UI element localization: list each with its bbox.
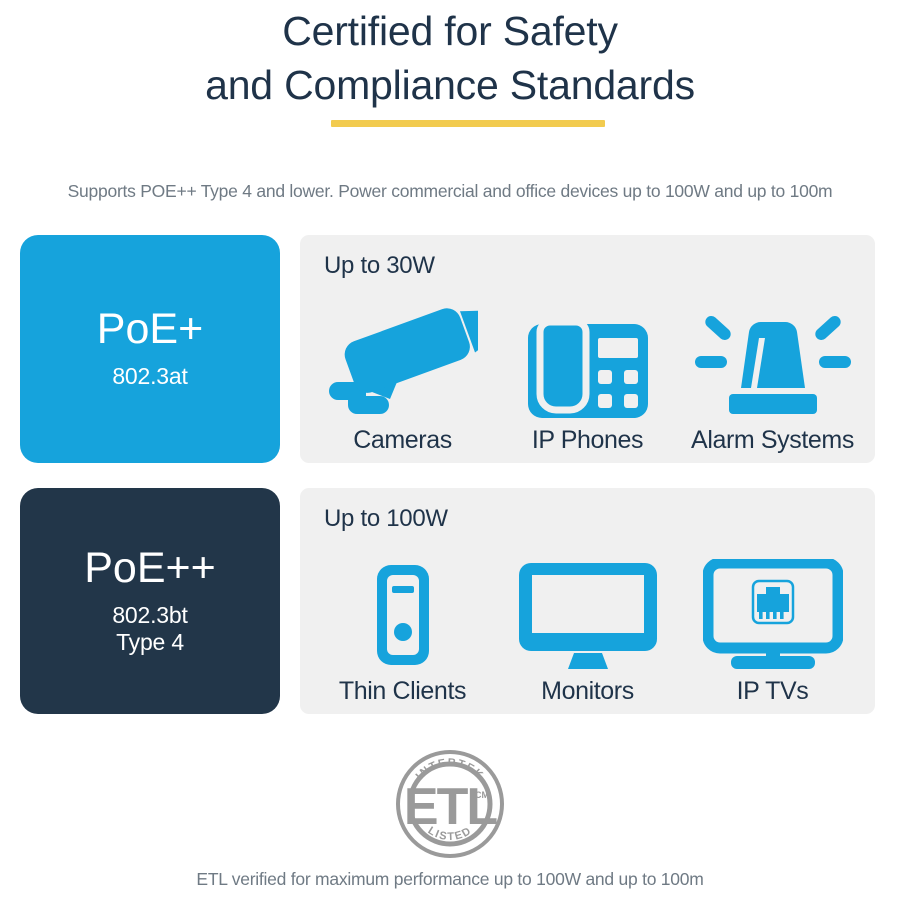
poe-plus-badge-standard: 802.3at [112,363,187,389]
device-item-alarm-systems: Alarm Systems [680,308,865,455]
device-item-cameras: Cameras [310,308,495,455]
device-item-ip-tvs: IP TVs [680,559,865,706]
device-item-monitors: Monitors [495,559,680,706]
poe-plus-device-panel: Up to 30W [300,235,875,463]
device-label-alarm-systems: Alarm Systems [691,426,854,455]
etl-listed-intertek-logo: INTERTEK LISTED ETL CM [394,748,506,865]
poe-plus-badge-card: PoE+ 802.3at [20,235,280,463]
certification-footnote: ETL verified for maximum performance up … [0,869,900,890]
tv-rj45-icon [703,559,843,671]
title-underline-rule [331,120,605,127]
desk-phone-icon [526,308,650,420]
poe-plusplus-row: PoE++ 802.3bt Type 4 Up to 100W [0,488,900,714]
etl-center-text: ETL [404,778,497,836]
alarm-siren-icon [687,308,859,420]
header: Certified for Safety and Compliance Stan… [0,0,900,110]
poe-plusplus-device-list: Thin Clients Monitors [310,544,865,706]
page-title-line-1: Certified for Safety [0,0,900,56]
poe-plusplus-standard-line-2: Type 4 [112,629,187,655]
computer-tower-icon [371,559,435,671]
etl-cm-mark: CM [475,790,489,800]
product-feature-graphic: Certified for Safety and Compliance Stan… [0,0,900,900]
poe-plus-badge-title: PoE+ [97,308,203,351]
poe-plusplus-badge-title: PoE++ [84,547,216,590]
certification-logo-wrap: INTERTEK LISTED ETL CM [0,748,900,865]
page-title-line-2: and Compliance Standards [0,56,900,110]
poe-plusplus-standard-line-1: 802.3bt [112,602,187,628]
poe-plus-row: PoE+ 802.3at Up to 30W [0,235,900,463]
poe-plusplus-power-heading: Up to 100W [324,505,448,533]
device-label-monitors: Monitors [541,677,634,706]
poe-plusplus-badge-card: PoE++ 802.3bt Type 4 [20,488,280,714]
page-subtitle: Supports POE++ Type 4 and lower. Power c… [0,181,900,202]
poe-plus-power-heading: Up to 30W [324,252,435,280]
device-item-ip-phones: IP Phones [495,308,680,455]
device-label-ip-phones: IP Phones [532,426,643,455]
poe-plusplus-badge-standard: 802.3bt Type 4 [112,602,187,655]
device-label-ip-tvs: IP TVs [737,677,809,706]
device-label-cameras: Cameras [353,426,452,455]
security-camera-icon [328,308,478,420]
monitor-icon [517,559,659,671]
device-item-thin-clients: Thin Clients [310,559,495,706]
device-label-thin-clients: Thin Clients [339,677,466,706]
poe-plus-device-list: Cameras [310,291,865,455]
poe-plusplus-device-panel: Up to 100W Thin Clients [300,488,875,714]
